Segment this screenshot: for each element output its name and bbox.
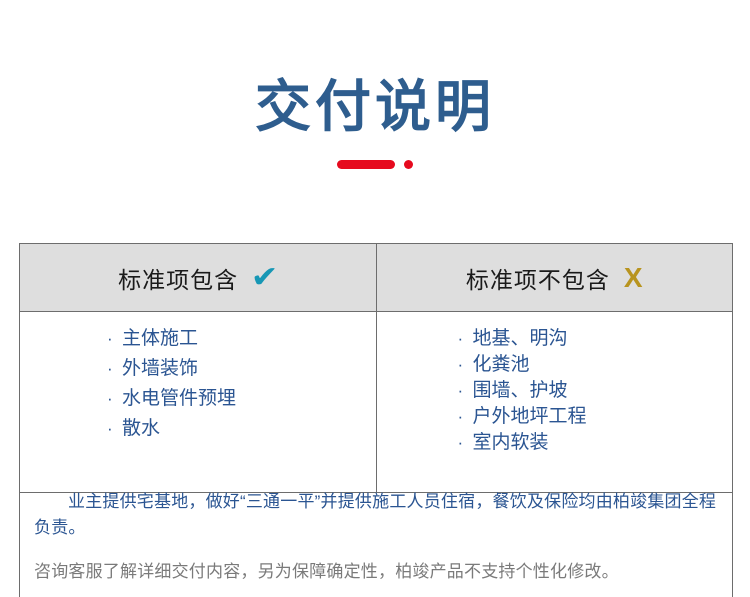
title-divider bbox=[0, 159, 750, 171]
list-item: · 水电管件预埋 bbox=[122, 389, 376, 408]
bullet-icon: · bbox=[107, 390, 113, 407]
list-item: · 户外地坪工程 bbox=[473, 407, 733, 426]
cross-icon: X bbox=[624, 264, 643, 292]
list-item-label: 围墙、护坡 bbox=[473, 380, 568, 401]
list-item-label: 地基、明沟 bbox=[473, 328, 568, 349]
bullet-icon: · bbox=[458, 330, 464, 347]
list-item: · 室内软装 bbox=[473, 433, 733, 452]
table-header-excluded: 标准项不包含 X bbox=[376, 244, 733, 312]
divider-bar-icon bbox=[337, 160, 395, 169]
footer-sub-note: 咨询客服了解详细交付内容，另为保障确定性，柏竣产品不支持个性化修改。 bbox=[34, 559, 720, 585]
list-item-label: 室内软装 bbox=[473, 432, 549, 453]
bullet-icon: · bbox=[458, 382, 464, 399]
table-header-included-label: 标准项包含 bbox=[118, 261, 238, 295]
divider-dot-icon bbox=[404, 160, 413, 169]
bullet-icon: · bbox=[107, 360, 113, 377]
list-item-label: 散水 bbox=[122, 418, 160, 439]
bullet-icon: · bbox=[458, 434, 464, 451]
included-items-list: · 主体施工 · 外墙装饰 · 水电管件预埋 · bbox=[20, 329, 376, 438]
included-items-cell: · 主体施工 · 外墙装饰 · 水电管件预埋 · bbox=[20, 312, 377, 493]
comparison-table: 标准项包含 ✔ 标准项不包含 X · 主体施工 bbox=[19, 243, 733, 493]
check-icon: ✔ bbox=[251, 263, 279, 293]
page-title: 交付说明 bbox=[0, 78, 750, 137]
list-item: · 外墙装饰 bbox=[122, 359, 376, 378]
excluded-items-list: · 地基、明沟 · 化粪池 · 围墙、护坡 · bbox=[377, 329, 733, 452]
list-item-label: 化粪池 bbox=[473, 354, 530, 375]
list-item-label: 户外地坪工程 bbox=[473, 406, 587, 427]
list-item-label: 主体施工 bbox=[122, 328, 198, 349]
list-item-label: 外墙装饰 bbox=[122, 358, 198, 379]
footer-note: 业主提供宅基地，做好“三通一平”并提供施工人员住宿，餐饮及保险均由柏竣集团全程负… bbox=[34, 489, 720, 542]
bullet-icon: · bbox=[458, 408, 464, 425]
table-header-row: 标准项包含 ✔ 标准项不包含 X bbox=[20, 244, 733, 312]
footer-section: 业主提供宅基地，做好“三通一平”并提供施工人员住宿，餐饮及保险均由柏竣集团全程负… bbox=[19, 476, 733, 597]
table-header-excluded-label: 标准项不包含 bbox=[466, 261, 610, 295]
table-header-included: 标准项包含 ✔ bbox=[20, 244, 377, 312]
list-item: · 围墙、护坡 bbox=[473, 381, 733, 400]
comparison-table-wrapper: 标准项包含 ✔ 标准项不包含 X · 主体施工 bbox=[19, 243, 733, 493]
title-block: 交付说明 bbox=[0, 0, 750, 171]
bullet-icon: · bbox=[458, 356, 464, 373]
list-item: · 化粪池 bbox=[473, 355, 733, 374]
bullet-icon: · bbox=[107, 330, 113, 347]
list-item: · 散水 bbox=[122, 419, 376, 438]
bullet-icon: · bbox=[107, 420, 113, 437]
list-item: · 主体施工 bbox=[122, 329, 376, 348]
list-item-label: 水电管件预埋 bbox=[122, 388, 236, 409]
list-item: · 地基、明沟 bbox=[473, 329, 733, 348]
excluded-items-cell: · 地基、明沟 · 化粪池 · 围墙、护坡 · bbox=[376, 312, 733, 493]
table-body-row: · 主体施工 · 外墙装饰 · 水电管件预埋 · bbox=[20, 312, 733, 493]
